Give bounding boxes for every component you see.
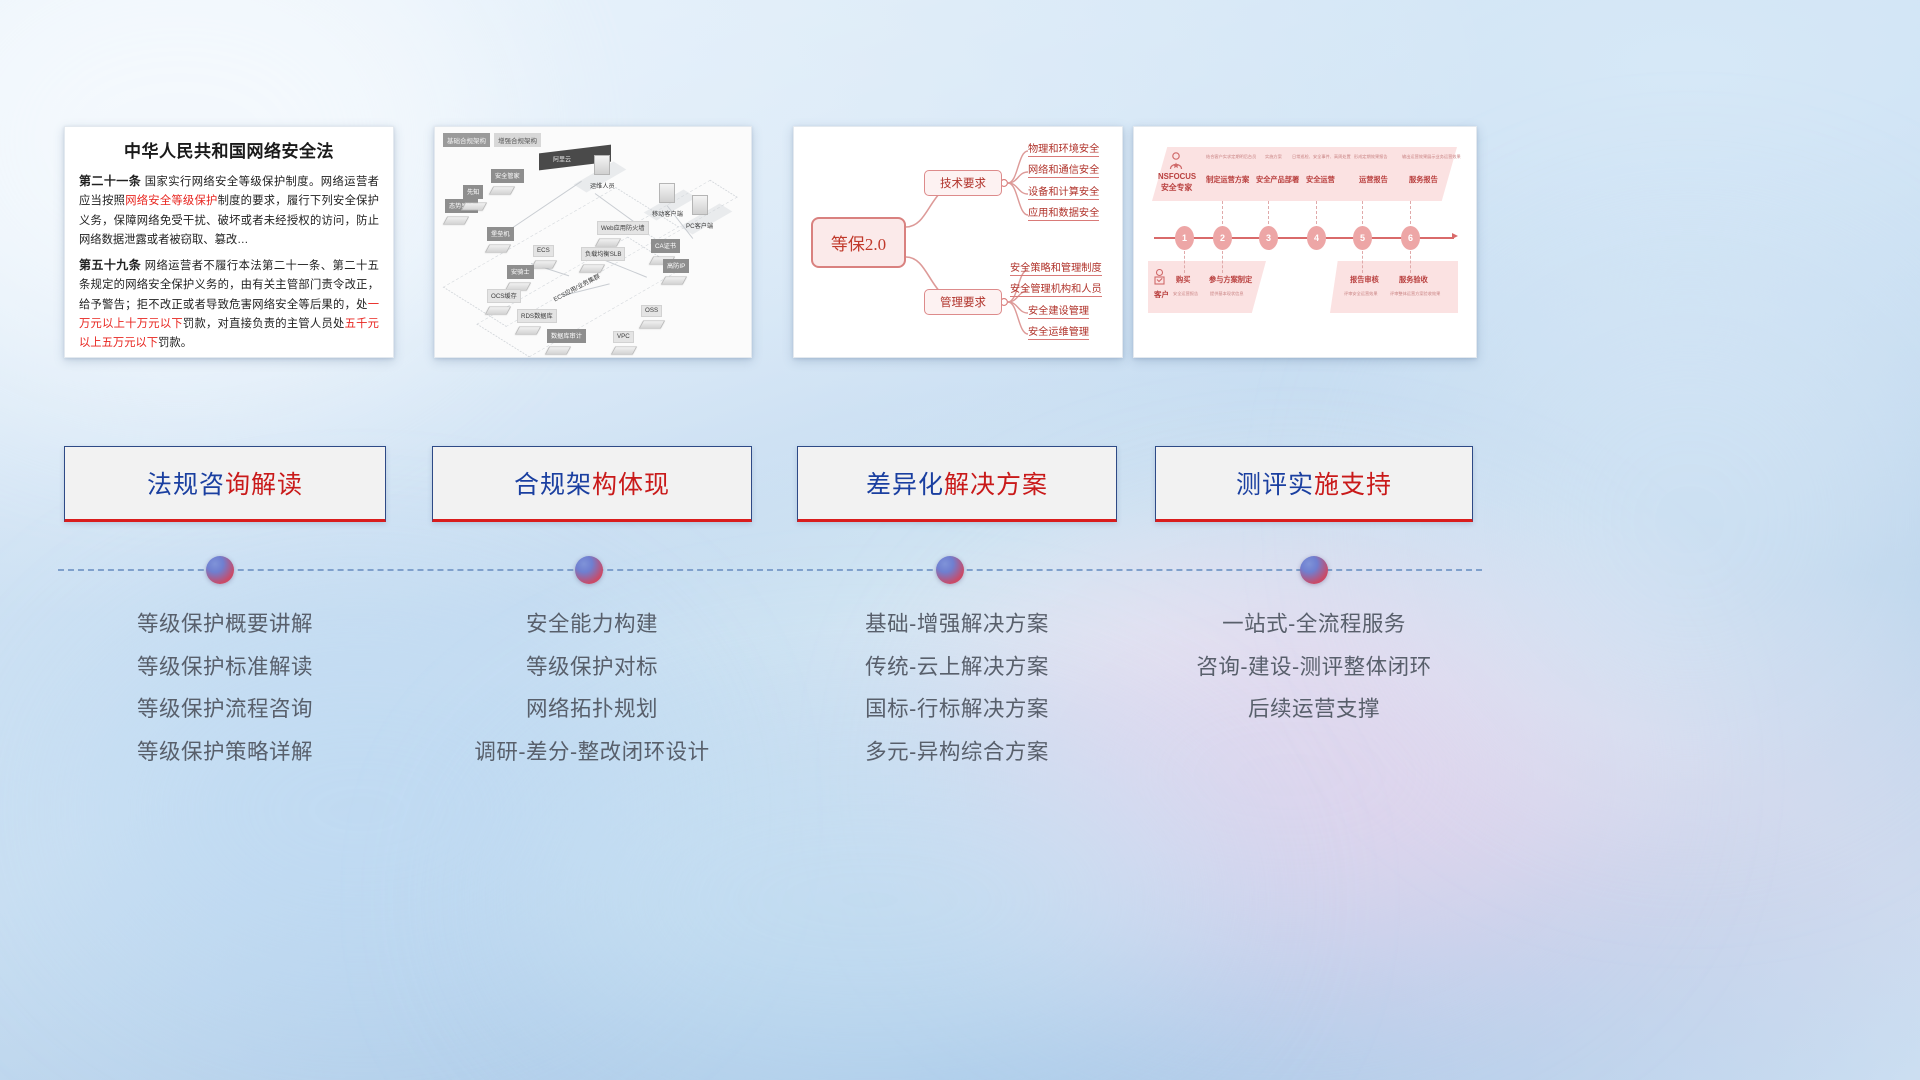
- nsfocus-step-dot-4: 4: [1307, 226, 1326, 250]
- header-row: 法规咨询解读 合规架构体现 差异化解决方案 测评实施支持: [0, 446, 1920, 522]
- law-article-59: 第五十九条 网络运营者不履行本法第二十一条、第二十五条规定的网络安全保护义务的，…: [79, 255, 379, 354]
- architecture-node-pc-client: PC客户端: [683, 195, 716, 233]
- list-item: 等级保护概要讲解: [64, 604, 386, 647]
- card-cybersecurity-law[interactable]: 中华人民共和国网络安全法 第二十一条 国家实行网络安全等级保护制度。网络运营者应…: [64, 126, 394, 358]
- architecture-node-label: CA证书: [651, 239, 680, 253]
- architecture-node-block: [485, 244, 511, 252]
- law-article-59-text3: 罚款。: [158, 337, 192, 349]
- nsfocus-tick-3: [1268, 201, 1269, 229]
- list-item: 一站式-全流程服务: [1155, 604, 1473, 647]
- law-document: 中华人民共和国网络安全法 第二十一条 国家实行网络安全等级保护制度。网络运营者应…: [65, 127, 393, 358]
- nsfocus-step-dot-5: 5: [1353, 226, 1372, 250]
- list-item: 多元-异构综合方案: [797, 732, 1117, 775]
- list-differentiated-solution: 基础-增强解决方案 传统-云上解决方案 国标-行标解决方案 多元-异构综合方案: [797, 604, 1117, 774]
- nsfocus-top-sub-3: 日常巡检、安全事件、高周处置: [1292, 154, 1351, 160]
- nsfocus-band-bottom-right: [1330, 261, 1458, 313]
- list-item: 传统-云上解决方案: [797, 647, 1117, 690]
- nsfocus-bottom-sub-4: 评审整体运营方案验收效果: [1390, 291, 1440, 297]
- architecture-node-oss: OSS: [641, 299, 663, 331]
- nsfocus-axis-arrow: [1452, 233, 1458, 239]
- nsfocus-top-sub-4: 形成定期效果报告: [1354, 154, 1388, 160]
- header-label: 测评实施支持: [1236, 465, 1392, 501]
- nsfocus-expert-line1: NSFOCUS: [1158, 172, 1196, 181]
- nsfocus-step-dot-1: 1: [1175, 226, 1194, 250]
- customer-person-icon: [1152, 269, 1167, 286]
- mindmap-leaf-network-comm: 网络和通信安全: [1028, 161, 1099, 178]
- architecture-node-block: [515, 326, 541, 334]
- nsfocus-tick-b2: [1222, 251, 1223, 273]
- architecture-node-label: 运维人员: [587, 180, 618, 192]
- architecture-node-label: ECS: [533, 245, 554, 257]
- list-regulation-consulting: 等级保护概要讲解 等级保护标准解读 等级保护流程咨询 等级保护策略详解: [64, 604, 386, 774]
- law-title: 中华人民共和国网络安全法: [79, 137, 379, 162]
- architecture-node-ops-staff: 运维人员: [587, 155, 618, 193]
- mindmap-diagram: 等保2.0 技术要求 管理要求 物理和环境安全 网络和通信安全 设备和计算安全 …: [794, 127, 1122, 357]
- architecture-node-label: 先知: [463, 185, 483, 199]
- nsfocus-top-title-2: 安全产品部署: [1256, 175, 1299, 185]
- list-item: 基础-增强解决方案: [797, 604, 1117, 647]
- nsfocus-bottom-sub-1: 安全运营报告: [1173, 291, 1198, 297]
- architecture-node-label: 安全管家: [491, 169, 524, 183]
- timeline-dashed-line: [58, 569, 1482, 571]
- expert-person-icon: [1168, 152, 1184, 170]
- nsfocus-tick-b5: [1362, 251, 1363, 273]
- mindmap-branch-technical[interactable]: 技术要求: [924, 170, 1002, 196]
- timeline-dot-2[interactable]: [575, 556, 603, 584]
- nsfocus-bottom-title-4: 服务验收: [1399, 275, 1428, 285]
- nsfocus-tick-2: [1222, 201, 1223, 229]
- architecture-node-label: 负载均衡SLB: [581, 247, 625, 261]
- architecture-node-label: PC客户端: [683, 220, 716, 232]
- header-assessment-support[interactable]: 测评实施支持: [1155, 446, 1473, 522]
- nsfocus-tick-b1: [1184, 251, 1185, 273]
- header-differentiated-solution[interactable]: 差异化解决方案: [797, 446, 1117, 522]
- architecture-node-anti-ddos-ip: 高防IP: [663, 255, 689, 287]
- nsfocus-top-sub-2: 实施方案: [1265, 154, 1282, 160]
- timeline-dot-4[interactable]: [1300, 556, 1328, 584]
- law-article-21-highlight: 网络安全等级保护: [125, 195, 217, 207]
- architecture-node-label: 移动客户端: [649, 208, 686, 220]
- architecture-tabs: 基础合规架构 增强合规架构: [443, 133, 541, 147]
- header-label: 差异化解决方案: [866, 465, 1048, 501]
- nsfocus-tick-6: [1410, 201, 1411, 229]
- timeline: [0, 556, 1920, 586]
- header-compliance-architecture[interactable]: 合规架构体现: [432, 446, 752, 522]
- mindmap-leaf-ops-mgmt: 安全运维管理: [1028, 323, 1089, 340]
- card-cloud-architecture[interactable]: 基础合规架构 增强合规架构 阿里云 态势感知: [434, 126, 752, 358]
- card-row: 中华人民共和国网络安全法 第二十一条 国家实行网络安全等级保护制度。网络运营者应…: [0, 126, 1920, 362]
- architecture-cloud-label: 阿里云: [553, 154, 571, 163]
- architecture-node-mobile-client: 移动客户端: [649, 183, 686, 221]
- header-label-blue: 合规架: [514, 471, 592, 499]
- header-label-red: 施支持: [1314, 471, 1392, 499]
- mindmap-leaf-policy-system: 安全策略和管理制度: [1010, 259, 1102, 276]
- architecture-node-pc: [692, 195, 708, 215]
- architecture-node-block: [489, 186, 515, 194]
- architecture-node-pc: [659, 183, 675, 203]
- mindmap-leaf-app-data: 应用和数据安全: [1028, 204, 1099, 221]
- list-item: 等级保护标准解读: [64, 647, 386, 690]
- architecture-tab-basic: 基础合规架构: [443, 133, 490, 147]
- list-item: 咨询-建设-测评整体闭环: [1155, 647, 1473, 690]
- mindmap-leaf-physical-env: 物理和环境安全: [1028, 140, 1099, 157]
- header-label-blue: 法规咨: [147, 471, 225, 499]
- nsfocus-tick-4: [1316, 201, 1317, 229]
- architecture-node-block: [639, 320, 665, 328]
- header-label-red: 构体现: [592, 471, 670, 499]
- list-assessment-support: 一站式-全流程服务 咨询-建设-测评整体闭环 后续运营支撑: [1155, 604, 1473, 732]
- architecture-node-pc: [594, 155, 610, 175]
- architecture-node-security-butler: 安全管家: [491, 165, 524, 197]
- nsfocus-tick-5: [1362, 201, 1363, 229]
- architecture-node-block: [485, 306, 511, 314]
- architecture-node-block: [545, 346, 571, 354]
- architecture-node-block: [443, 216, 469, 224]
- mindmap-leaf-device-compute: 设备和计算安全: [1028, 183, 1099, 200]
- header-label-red: 解决方案: [944, 471, 1048, 499]
- nsfocus-top-title-4: 运营报告: [1359, 175, 1388, 185]
- list-item: 调研-差分-整改闭环设计: [432, 732, 752, 775]
- nsfocus-tick-b6: [1410, 251, 1411, 273]
- architecture-node-block: [611, 346, 637, 354]
- architecture-node-bastion-host: 堡垒机: [487, 223, 514, 255]
- architecture-node-label: RDS数据库: [517, 309, 557, 323]
- nsfocus-top-title-1: 制定运营方案: [1206, 175, 1249, 185]
- timeline-dot-3[interactable]: [936, 556, 964, 584]
- timeline-dot-1[interactable]: [206, 556, 234, 584]
- header-regulation-consulting[interactable]: 法规咨询解读: [64, 446, 386, 522]
- architecture-diagram: 基础合规架构 增强合规架构 阿里云 态势感知: [435, 127, 751, 357]
- nsfocus-customer-label: 客户: [1154, 289, 1169, 300]
- header-label-blue: 差异化: [866, 471, 944, 499]
- background-blob-d: [520, 720, 1220, 1080]
- architecture-node-vpc: VPC: [613, 325, 635, 357]
- architecture-node-label: OSS: [641, 305, 662, 317]
- header-label: 合规架构体现: [514, 465, 670, 501]
- card-nsfocus-timeline[interactable]: NSFOCUS 安全专家 结合客户实求定期明后台员 制定运营方案 实施方案 安全…: [1133, 126, 1477, 358]
- nsfocus-step-dot-2: 2: [1213, 226, 1232, 250]
- nsfocus-diagram: NSFOCUS 安全专家 结合客户实求定期明后台员 制定运营方案 实施方案 安全…: [1134, 127, 1476, 357]
- nsfocus-bottom-title-1: 购买: [1176, 275, 1190, 285]
- list-item: 安全能力构建: [432, 604, 752, 647]
- architecture-node-db-audit: 数据库审计: [547, 325, 586, 357]
- nsfocus-bottom-sub-2: 提供基本现状信息: [1210, 291, 1244, 297]
- list-item: 网络拓扑规划: [432, 689, 752, 732]
- law-article-59-label: 第五十九条: [79, 258, 141, 272]
- nsfocus-top-title-5: 服务报告: [1409, 175, 1438, 185]
- nsfocus-step-dot-3: 3: [1259, 226, 1278, 250]
- architecture-node-ecs: ECS: [533, 239, 555, 271]
- architecture-node-label: 安骑士: [507, 265, 534, 279]
- mindmap-root-node[interactable]: 等保2.0: [811, 217, 906, 268]
- header-label-red: 询解读: [225, 471, 303, 499]
- law-article-21-label: 第二十一条: [79, 174, 141, 188]
- nsfocus-expert-line2: 安全专家: [1161, 182, 1192, 193]
- nsfocus-bottom-sub-3: 评审安全运营效果: [1344, 291, 1378, 297]
- nsfocus-bottom-title-3: 报告审核: [1350, 275, 1379, 285]
- law-article-21: 第二十一条 国家实行网络安全等级保护制度。网络运营者应当按照网络安全等级保护制度…: [79, 171, 379, 251]
- list-item: 等级保护策略详解: [64, 732, 386, 775]
- list-item: 等级保护流程咨询: [64, 689, 386, 732]
- architecture-node-label: 数据库审计: [547, 329, 586, 343]
- nsfocus-bottom-title-2: 参与方案制定: [1209, 275, 1252, 285]
- architecture-node-label: 堡垒机: [487, 227, 514, 241]
- law-article-59-text2: 罚款，对直接负责的主管人员处: [183, 318, 345, 330]
- architecture-node-block: [461, 202, 487, 210]
- architecture-node-ocs-cache: OCS缓存: [487, 285, 521, 317]
- architecture-node-block: [661, 276, 687, 284]
- architecture-tab-enhanced: 增强合规架构: [494, 133, 541, 147]
- list-item: 等级保护对标: [432, 647, 752, 690]
- mindmap-leaf-org-personnel: 安全管理机构和人员: [1010, 280, 1102, 297]
- header-label: 法规咨询解读: [147, 465, 303, 501]
- architecture-node-label: Web应用防火墙: [597, 221, 649, 235]
- mindmap-branch-management[interactable]: 管理要求: [924, 289, 1002, 315]
- list-item: 国标-行标解决方案: [797, 689, 1117, 732]
- architecture-node-label: VPC: [613, 331, 634, 343]
- list-item: 后续运营支撑: [1155, 689, 1473, 732]
- list-compliance-architecture: 安全能力构建 等级保护对标 网络拓扑规划 调研-差分-整改闭环设计: [432, 604, 752, 774]
- header-label-blue: 测评实: [1236, 471, 1314, 499]
- nsfocus-top-sub-1: 结合客户实求定期明后台员: [1206, 154, 1256, 160]
- nsfocus-top-sub-5: 输出运营效果展示业务运营效果: [1402, 154, 1461, 160]
- nsfocus-top-title-3: 安全运营: [1306, 175, 1335, 185]
- mindmap-leaf-construction-mgmt: 安全建设管理: [1028, 302, 1089, 319]
- architecture-node-block: [531, 260, 557, 268]
- nsfocus-step-dot-6: 6: [1401, 226, 1420, 250]
- card-mindmap-dengbao[interactable]: 等保2.0 技术要求 管理要求 物理和环境安全 网络和通信安全 设备和计算安全 …: [793, 126, 1123, 358]
- architecture-node-label: 高防IP: [663, 259, 689, 273]
- architecture-node-xianzhi: 先知: [463, 181, 485, 213]
- architecture-node-label: OCS缓存: [487, 289, 521, 303]
